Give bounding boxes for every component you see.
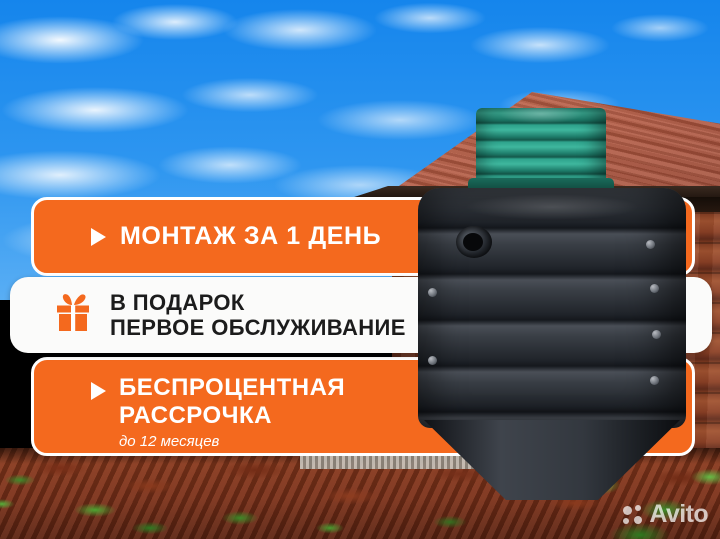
banner-install-title: МОНТАЖ ЗА 1 ДЕНЬ	[120, 222, 381, 251]
septic-tank-product	[418, 108, 686, 494]
play-triangle-icon	[91, 382, 106, 400]
tank-bolt	[428, 356, 437, 365]
advertisement-image: МОНТАЖ ЗА 1 ДЕНЬ БЕСПРОЦЕНТНАЯ РАССРОЧКА…	[0, 0, 720, 539]
tank-top-highlight	[428, 192, 676, 222]
tank-bolt	[650, 284, 659, 293]
avito-watermark: Avito	[623, 500, 708, 529]
avito-dots-logo	[623, 505, 643, 525]
banner-installment-subtext: до 12 месяцев	[119, 433, 345, 450]
banner-installment-line2: РАССРОЧКА	[119, 402, 345, 430]
tank-bolt	[652, 330, 661, 339]
gift-icon	[52, 293, 94, 338]
avito-wordmark: Avito	[649, 500, 708, 529]
tank-bolt	[646, 240, 655, 249]
tank-bolt	[650, 376, 659, 385]
tank-body	[418, 188, 686, 428]
tank-bolt	[428, 288, 437, 297]
tank-inlet-port	[456, 226, 492, 258]
play-triangle-icon	[91, 228, 106, 246]
grass-middle	[200, 488, 530, 539]
grass-left	[0, 462, 220, 539]
tank-green-riser	[476, 108, 606, 186]
banner-gift-line2: ПЕРВОЕ ОБСЛУЖИВАНИЕ	[110, 315, 406, 340]
banner-gift-line1: В ПОДАРОК	[110, 290, 406, 315]
tank-cone-base	[424, 420, 680, 500]
banner-installment-line1: БЕСПРОЦЕНТНАЯ	[119, 374, 345, 402]
